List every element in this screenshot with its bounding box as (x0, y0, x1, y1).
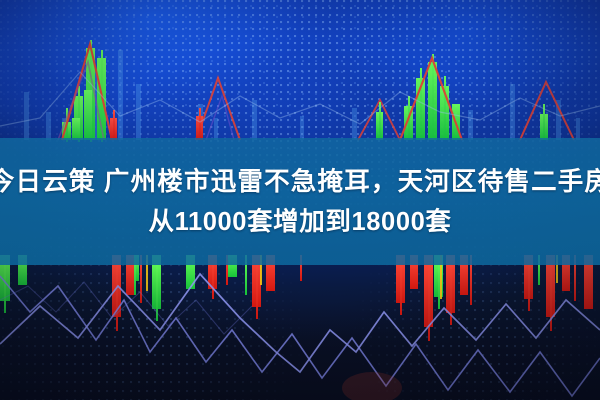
news-banner-image: 今日云策 广州楼市迅雷不急掩耳，天河区待售二手房 从11000套增加到18000… (0, 0, 600, 400)
headline-text-block: 今日云策 广州楼市迅雷不急掩耳，天河区待售二手房 从11000套增加到18000… (0, 138, 600, 265)
headline-line-1: 今日云策 广州楼市迅雷不急掩耳，天河区待售二手房 (0, 164, 600, 200)
headline-line-2: 从11000套增加到18000套 (148, 204, 451, 240)
